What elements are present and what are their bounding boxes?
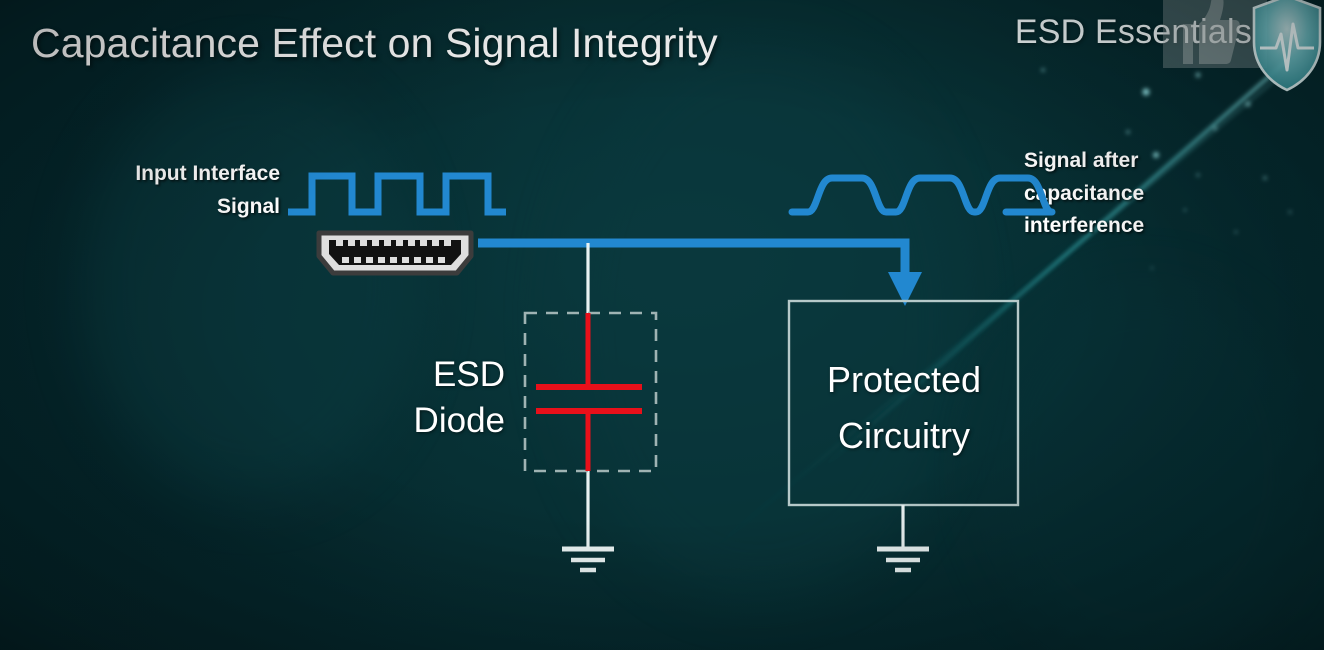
vignette-overlay	[0, 0, 1324, 650]
slide-canvas: Capacitance Effect on Signal Integrity E…	[0, 0, 1324, 650]
